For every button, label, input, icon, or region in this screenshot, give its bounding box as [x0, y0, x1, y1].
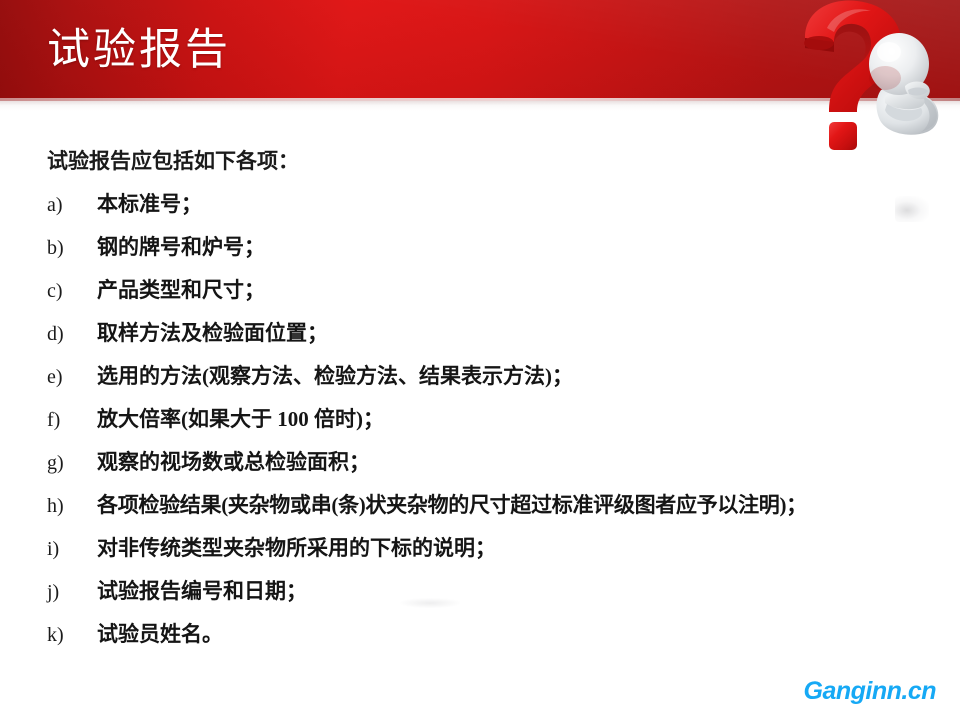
list-item: c)产品类型和尺寸；: [0, 269, 960, 312]
list-item-text: 试验报告编号和日期；: [97, 570, 307, 613]
banner-drop-shadow: [0, 101, 960, 111]
list-item-text: 产品类型和尺寸；: [97, 269, 265, 312]
list-item-text: 对非传统类型夹杂物所采用的下标的说明；: [97, 527, 496, 570]
slide-body: 试验报告应包括如下各项： a)本标准号； b)钢的牌号和炉号； c)产品类型和尺…: [0, 140, 960, 656]
list-item-text: 放大倍率(如果大于 100 倍时)；: [97, 398, 384, 441]
list-item: b)钢的牌号和炉号；: [0, 226, 960, 269]
list-item-marker: i): [47, 528, 97, 571]
list-item-text: 观察的视场数或总检验面积；: [97, 441, 370, 484]
list-item: d)取样方法及检验面位置；: [0, 312, 960, 355]
list-item-text: 各项检验结果(夹杂物或串(条)状夹杂物的尺寸超过标准评级图者应予以注明)；: [97, 484, 807, 527]
intro-line: 试验报告应包括如下各项：: [0, 140, 960, 183]
list-item: a)本标准号；: [0, 183, 960, 226]
list-item-marker: a): [47, 184, 97, 227]
list-item-marker: c): [47, 270, 97, 313]
list-item: k)试验员姓名。: [0, 613, 960, 656]
list-item-marker: g): [47, 442, 97, 485]
list-item-marker: d): [47, 313, 97, 356]
slide: 试验报告: [0, 0, 960, 720]
list-item: e)选用的方法(观察方法、检验方法、结果表示方法)；: [0, 355, 960, 398]
page-title: 试验报告: [47, 22, 231, 78]
list-item-marker: h): [47, 485, 97, 528]
list-item: i)对非传统类型夹杂物所采用的下标的说明；: [0, 527, 960, 570]
list-item: j)试验报告编号和日期；: [0, 570, 960, 613]
list-item-text: 选用的方法(观察方法、检验方法、结果表示方法)；: [97, 355, 573, 398]
list-item-marker: b): [47, 227, 97, 270]
requirements-list: a)本标准号； b)钢的牌号和炉号； c)产品类型和尺寸； d)取样方法及检验面…: [0, 183, 960, 656]
list-item: g)观察的视场数或总检验面积；: [0, 441, 960, 484]
list-item-marker: k): [47, 614, 97, 657]
list-item-text: 本标准号；: [97, 183, 202, 226]
list-item-marker: j): [47, 571, 97, 614]
list-item-text: 钢的牌号和炉号；: [97, 226, 265, 269]
watermark-logo: Ganginn.cn: [804, 677, 937, 706]
list-item-text: 取样方法及检验面位置；: [97, 312, 328, 355]
list-item-text: 试验员姓名。: [97, 613, 223, 656]
list-item-marker: e): [47, 356, 97, 399]
list-item: f)放大倍率(如果大于 100 倍时)；: [0, 398, 960, 441]
list-item-marker: f): [47, 399, 97, 442]
list-item: h)各项检验结果(夹杂物或串(条)状夹杂物的尺寸超过标准评级图者应予以注明)；: [0, 484, 960, 527]
